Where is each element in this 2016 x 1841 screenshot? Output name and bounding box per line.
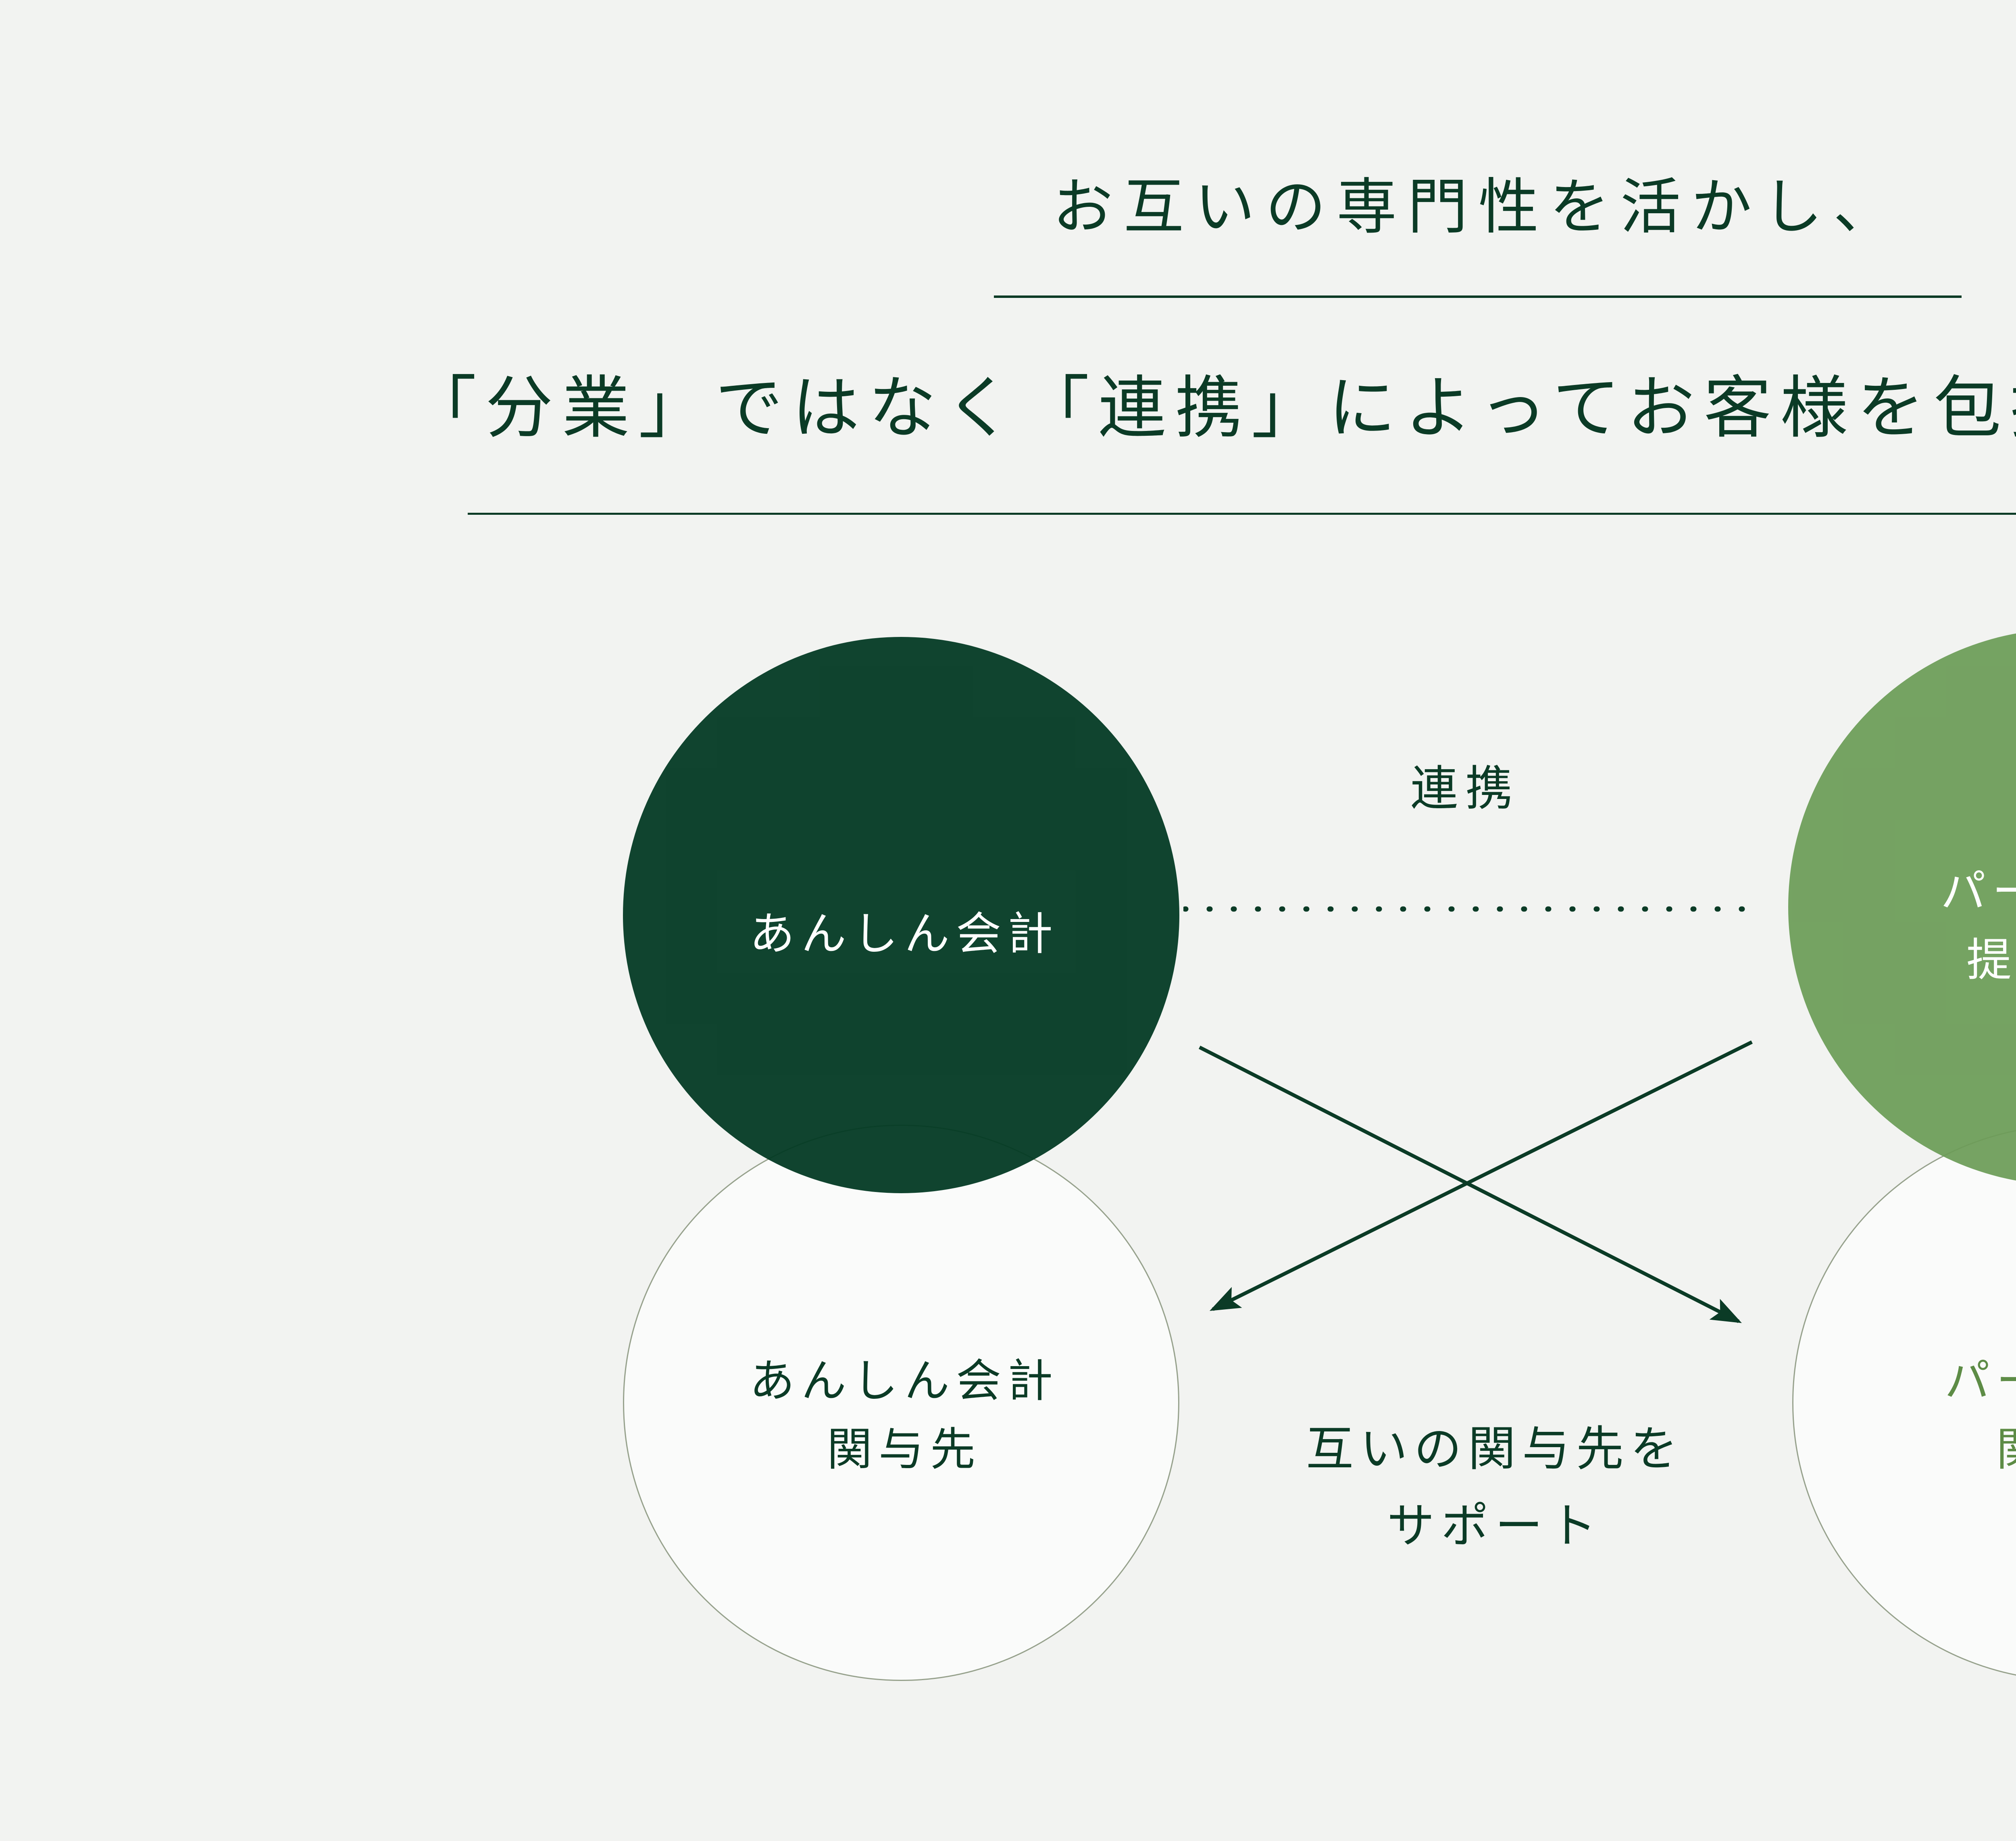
circle-label-line-1: あんしん会計 (743, 900, 1059, 969)
headline-divider-top (994, 295, 1962, 298)
headline-line-2: 「分業」ではなく「連携」によってお客様を包括的にサポート (0, 375, 2016, 443)
support-caption: 互いの関与先を サポート (1193, 1411, 1790, 1565)
headline-divider-bottom (468, 513, 2016, 515)
support-caption-line-2: サポート (1193, 1488, 1790, 1565)
support-caption-line-1: 互いの関与先を (1193, 1411, 1790, 1488)
diagram-canvas: お互いの専門性を活かし、 「分業」ではなく「連携」によってお客様を包括的にサポー… (0, 0, 2016, 1841)
circle-anshin-kaikei[interactable]: あんしん会計 (623, 637, 1179, 1193)
circle-label-stack: パートナー 提携企業 (1934, 858, 2016, 995)
circle-label-line-1: パートナー (1934, 858, 2016, 926)
circle-label-stack: あんしん会計 関与先 (743, 1347, 1059, 1484)
circle-label-line-1: あんしん会計 (743, 1347, 1059, 1416)
circle-label-stack: あんしん会計 (743, 900, 1059, 969)
connector-label-renkei: 連携 (1403, 750, 1520, 819)
circle-partner-company[interactable]: パートナー 提携企業 (1788, 629, 2016, 1185)
circle-anshin-kaikei-clients[interactable]: あんしん会計 関与先 (623, 1125, 1179, 1681)
venn-diagram: あんしん会計 関与先 パートナー 関与先 あんしん会計 パートナー 提携企業 (0, 597, 2016, 1766)
circle-label-line-2: 提携企業 (1934, 926, 2016, 995)
circle-label-line-2: 関与先 (743, 1416, 1059, 1484)
dotted-connector-line (1183, 906, 1748, 912)
circle-partner-clients[interactable]: パートナー 関与先 (1792, 1125, 2016, 1681)
circle-label-line-2: 関与先 (1938, 1416, 2016, 1484)
circle-label-line-1: パートナー (1938, 1347, 2016, 1416)
circle-label-stack: パートナー 関与先 (1938, 1347, 2016, 1484)
headline-line-1: お互いの専門性を活かし、 (0, 177, 2016, 238)
